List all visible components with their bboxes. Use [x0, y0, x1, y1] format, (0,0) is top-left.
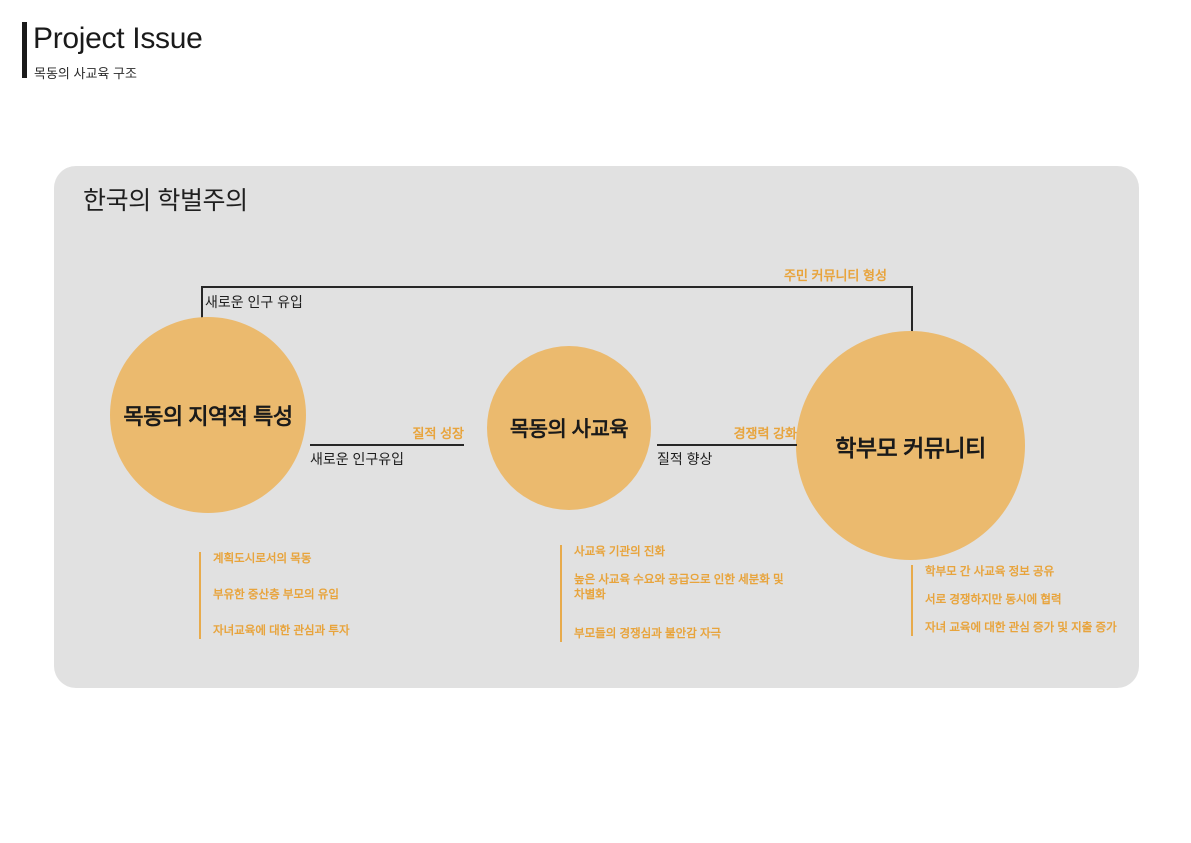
- detail-list-parent-community: 학부모 간 사교육 정보 공유 서로 경쟁하지만 동시에 협력 자녀 교육에 대…: [911, 565, 1165, 636]
- page-subtitle: 목동의 사교육 구조: [34, 65, 137, 83]
- connector-line: [310, 444, 464, 446]
- node-circle-private-education[interactable]: 목동의 사교육: [487, 346, 651, 510]
- page-header: Project Issue 목동의 사교육 구조: [22, 20, 622, 82]
- list-item: 자녀교육에 대한 관심과 투자: [213, 624, 413, 639]
- bracket-horizontal-line: [201, 286, 913, 288]
- node-circle-local-characteristics[interactable]: 목동의 지역적 특성: [110, 317, 306, 513]
- detail-list-local-characteristics: 계획도시로서의 목동 부유한 중산층 부모의 유입 자녀교육에 대한 관심과 투…: [199, 552, 413, 639]
- list-item: 부유한 중산층 부모의 유입: [213, 588, 413, 603]
- connector-label-below: 질적 향상: [657, 449, 712, 469]
- bracket-label-below: 새로운 인구 유입: [205, 292, 303, 312]
- connector-label-above: 질적 성장: [413, 423, 464, 442]
- page-title: Project Issue: [33, 18, 203, 60]
- node-label: 목동의 지역적 특성: [123, 399, 292, 431]
- node-label: 학부모 커뮤니티: [835, 429, 986, 463]
- list-item: 학부모 간 사교육 정보 공유: [925, 565, 1165, 580]
- list-item: 부모들의 경쟁심과 불안감 자극: [574, 627, 794, 642]
- detail-list-private-education: 사교육 기관의 진화 높은 사교육 수요와 공급으로 인한 세분화 및 차별화 …: [560, 545, 794, 642]
- connector-label-below: 새로운 인구유입: [310, 449, 404, 469]
- diagram-card: 한국의 학벌주의 주민 커뮤니티 형성 새로운 인구 유입 목동의 지역적 특성…: [54, 166, 1139, 688]
- list-item: 계획도시로서의 목동: [213, 552, 413, 567]
- bracket-label-above: 주민 커뮤니티 형성: [784, 265, 887, 284]
- header-accent-bar: [22, 22, 27, 78]
- list-item: 사교육 기관의 진화: [574, 545, 794, 560]
- list-item: 높은 사교육 수요와 공급으로 인한 세분화 및 차별화: [574, 573, 794, 603]
- flow-diagram: 주민 커뮤니티 형성 새로운 인구 유입 목동의 지역적 특성 목동의 사교육 …: [54, 166, 1139, 688]
- connector-2: 경쟁력 강화 질적 향상: [657, 425, 797, 469]
- connector-1: 질적 성장 새로운 인구유입: [310, 425, 464, 469]
- node-label: 목동의 사교육: [510, 413, 628, 443]
- connector-label-above: 경쟁력 강화: [734, 423, 797, 442]
- list-item: 자녀 교육에 대한 관심 증가 및 지출 증가: [925, 621, 1165, 636]
- connector-line: [657, 444, 797, 446]
- list-item: 서로 경쟁하지만 동시에 협력: [925, 593, 1165, 608]
- node-circle-parent-community[interactable]: 학부모 커뮤니티: [796, 331, 1025, 560]
